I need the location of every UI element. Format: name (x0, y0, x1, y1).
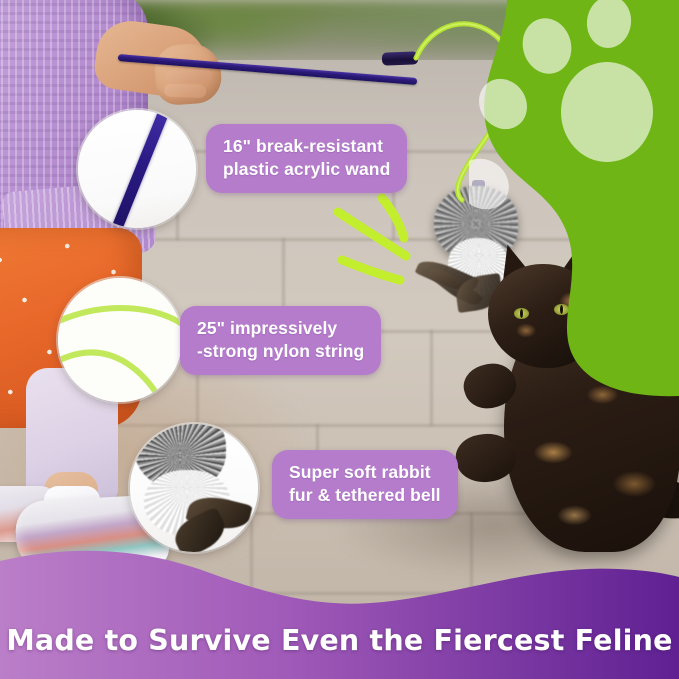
banner-headline: Made to Survive Even the Fiercest Feline (0, 624, 679, 657)
green-blob-decor (469, 0, 679, 400)
magnifier-wand-closeup (78, 110, 196, 228)
callout-label-string: 25" impressively -strong nylon string (180, 306, 381, 375)
banner-wave-shape (0, 539, 679, 679)
wand-rod-closeup (106, 110, 174, 228)
callout-label-fur: Super soft rabbit fur & tethered bell (272, 450, 458, 519)
magnifier-string-closeup (58, 278, 182, 402)
child-hand (153, 42, 223, 106)
product-feature-image: 16" break-resistant plastic acrylic wand… (0, 0, 679, 679)
callout-label-wand: 16" break-resistant plastic acrylic wand (206, 124, 407, 193)
bottom-banner: Made to Survive Even the Fiercest Feline (0, 539, 679, 679)
wand-tip-connector (382, 51, 418, 65)
motion-arcs-icon (330, 190, 430, 290)
pavement-seam (430, 330, 433, 426)
magnifier-fur-closeup (130, 424, 258, 552)
